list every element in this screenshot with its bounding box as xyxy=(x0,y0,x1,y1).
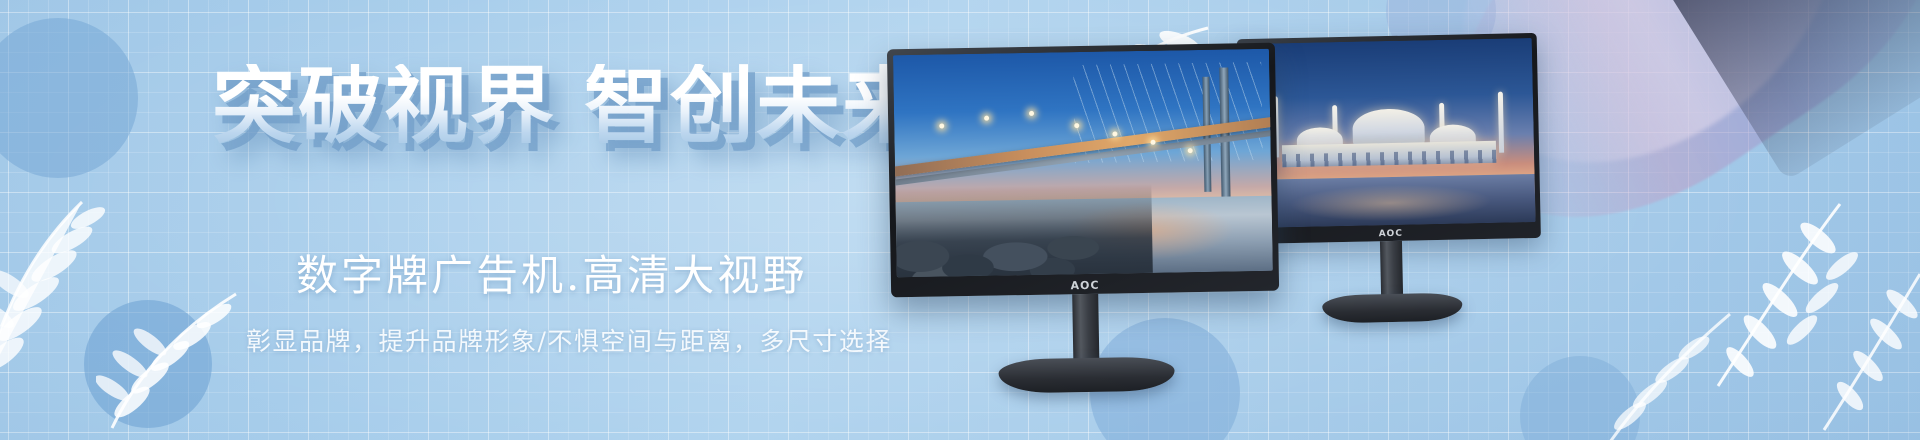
street-lamp-icon xyxy=(1112,131,1117,136)
monitor-stand-neck-front xyxy=(1072,294,1099,360)
bridge-rocks xyxy=(893,184,1153,277)
product-monitor-front[interactable]: AOC xyxy=(887,43,1281,410)
tagline: 彰显品牌，提升品牌形象/不惧空间与距离，多尺寸选择 xyxy=(246,322,892,358)
monitor-screen-front xyxy=(893,49,1273,278)
street-lamp-icon xyxy=(1150,140,1155,145)
page-title: 突破视界智创未来 xyxy=(212,64,928,148)
monitor-bezel-front: AOC xyxy=(887,43,1279,298)
monitor-stand-neck-back xyxy=(1380,241,1403,297)
street-lamp-icon xyxy=(1188,148,1193,153)
product-monitor-back[interactable]: AOC xyxy=(1237,33,1544,359)
headline-part-1: 突破视界 xyxy=(212,57,556,155)
minaret-icon xyxy=(1498,92,1504,153)
monitor-screen-back xyxy=(1242,38,1536,228)
promo-banner: 突破视界智创未来 数字牌广告机.高清大视野 彰显品牌，提升品牌形象/不惧空间与距… xyxy=(0,0,1920,440)
brand-logo-back: AOC xyxy=(1379,229,1403,240)
mosque-building xyxy=(1260,90,1517,180)
product-group: AOC xyxy=(880,0,1920,440)
street-lamp-icon xyxy=(939,123,944,128)
monitor-stand-base-back xyxy=(1322,293,1463,324)
headline-part-2: 智创未来 xyxy=(584,57,928,155)
mosque-water-glow xyxy=(1288,182,1492,223)
subtitle: 数字牌广告机.高清大视野 xyxy=(296,242,807,303)
monitor-bezel-back: AOC xyxy=(1237,33,1541,244)
brand-logo-front: AOC xyxy=(1070,279,1099,293)
monitor-stand-base-front xyxy=(998,356,1175,393)
